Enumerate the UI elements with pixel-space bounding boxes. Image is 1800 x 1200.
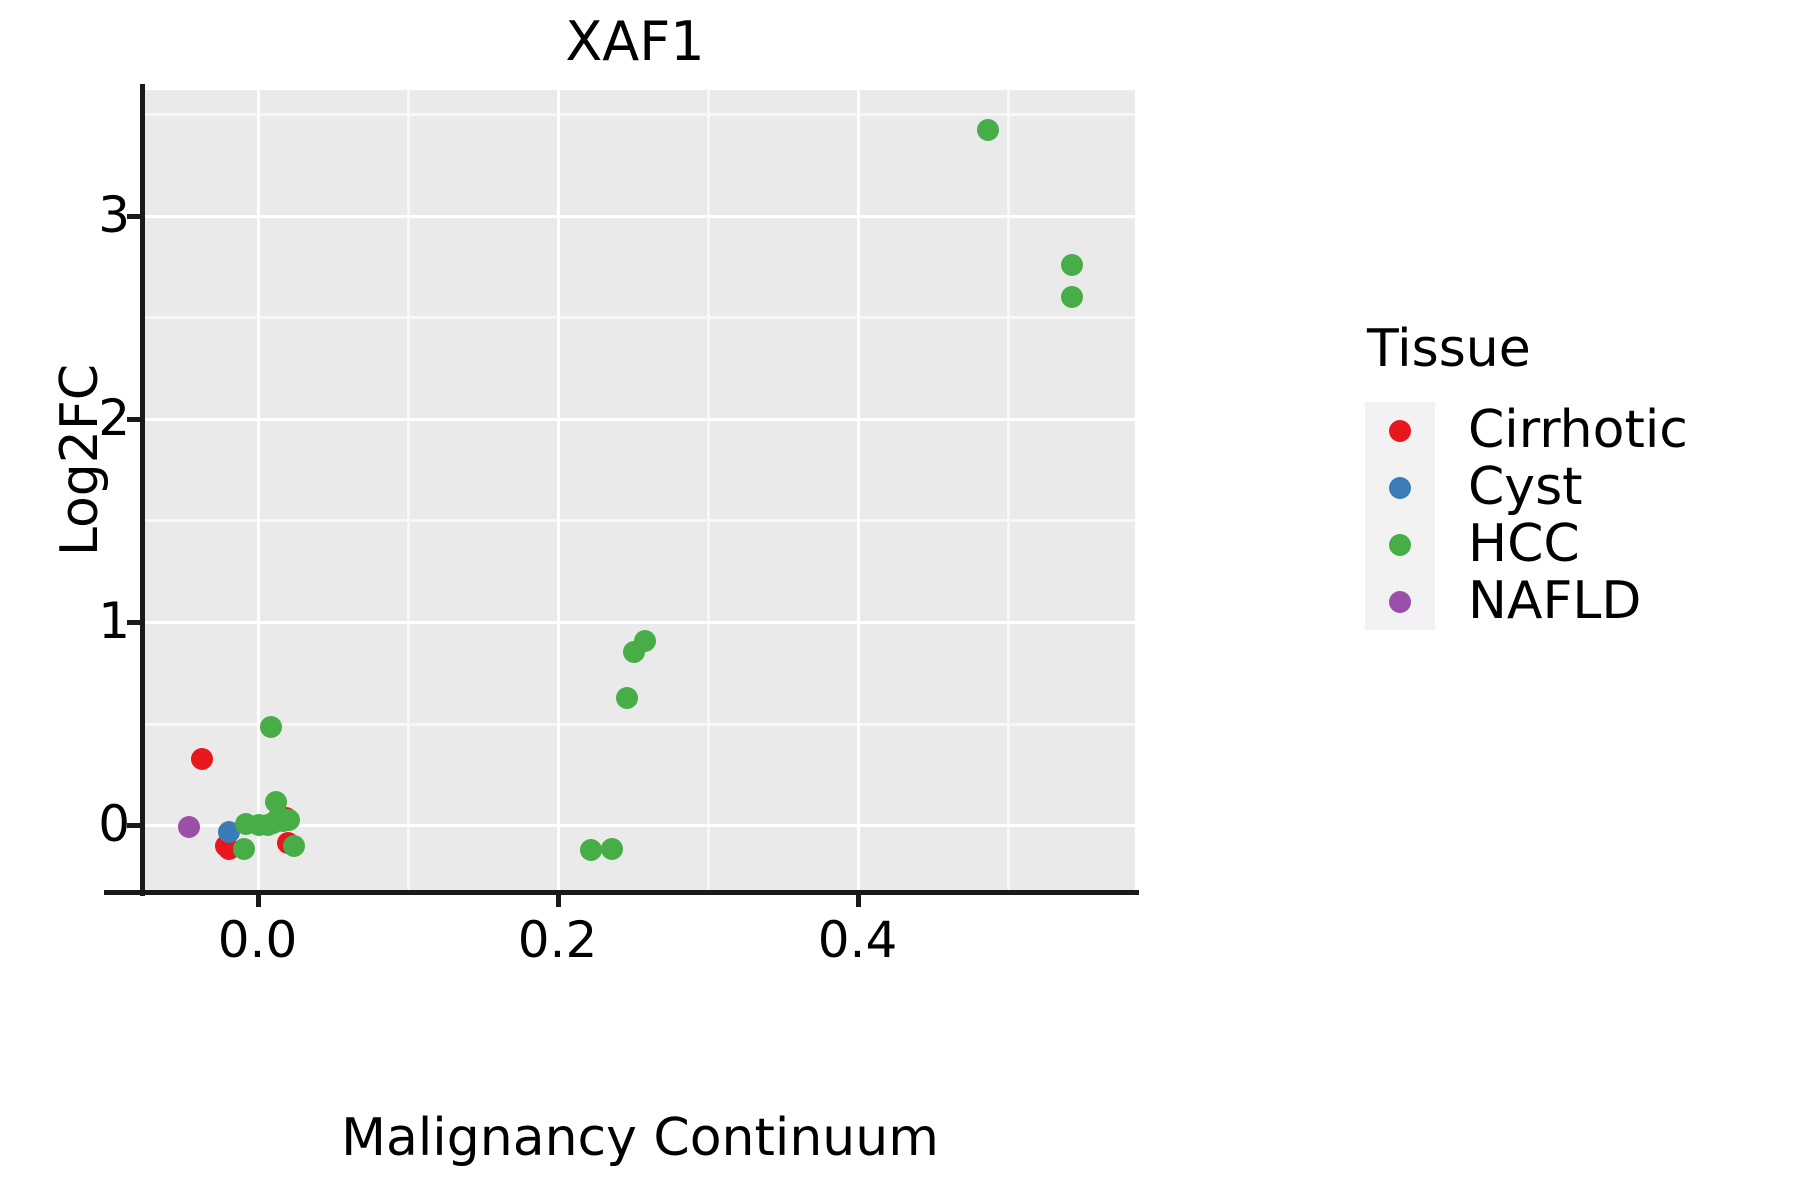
gridline-horizontal-major	[145, 621, 1135, 624]
legend-key-swatch	[1365, 573, 1435, 630]
data-point-hcc	[977, 119, 999, 141]
gridline-horizontal-major	[145, 215, 1135, 218]
x-tick-label: 0.0	[158, 915, 358, 965]
data-point-hcc	[233, 838, 255, 860]
legend-item-label: NAFLD	[1468, 573, 1641, 630]
gridline-vertical-major	[257, 90, 260, 890]
data-point-hcc	[601, 838, 623, 860]
x-tick-label: 0.4	[758, 915, 958, 965]
legend-item-nafld[interactable]: NAFLD	[1365, 573, 1688, 630]
y-axis-line	[140, 84, 145, 896]
data-point-cirrhotic	[191, 748, 213, 770]
data-point-hcc	[616, 687, 638, 709]
data-point-hcc	[580, 839, 602, 861]
gridline-vertical-minor	[707, 90, 710, 890]
page-title: XAF1	[0, 10, 1270, 74]
legend-dot-icon	[1389, 420, 1411, 442]
gridline-vertical-major	[557, 90, 560, 890]
chart-figure: XAF1 0123 0.00.20.4 Malignancy Continuum…	[0, 0, 1800, 1200]
legend-key-swatch	[1365, 459, 1435, 516]
x-tick-mark	[256, 893, 261, 907]
legend-key-swatch	[1365, 402, 1435, 459]
legend-item-label: Cyst	[1468, 459, 1583, 516]
gridline-horizontal-minor	[145, 723, 1135, 726]
legend-item-label: HCC	[1468, 516, 1580, 573]
legend: Tissue CirrhoticCystHCCNAFLD	[1365, 318, 1688, 630]
legend-entries: CirrhoticCystHCCNAFLD	[1365, 402, 1688, 630]
x-axis-title: Malignancy Continuum	[145, 1108, 1135, 1168]
gridline-horizontal-major	[145, 418, 1135, 421]
y-tick-label: 0	[10, 799, 130, 849]
gridline-horizontal-minor	[145, 519, 1135, 522]
y-axis-title: Log2FC	[50, 200, 110, 720]
legend-dot-icon	[1389, 477, 1411, 499]
legend-item-label: Cirrhotic	[1468, 402, 1688, 459]
data-point-hcc	[283, 835, 305, 857]
x-tick-label: 0.2	[458, 915, 658, 965]
legend-title: Tissue	[1365, 318, 1688, 380]
x-tick-mark	[856, 893, 861, 907]
data-point-hcc	[1061, 286, 1083, 308]
gridline-vertical-minor	[407, 90, 410, 890]
gridline-horizontal-minor	[145, 316, 1135, 319]
gridline-vertical-major	[857, 90, 860, 890]
legend-key-swatch	[1365, 516, 1435, 573]
data-point-nafld	[178, 816, 200, 838]
data-point-hcc	[235, 813, 257, 835]
legend-item-cirrhotic[interactable]: Cirrhotic	[1365, 402, 1688, 459]
data-point-hcc	[623, 641, 645, 663]
plot-panel	[145, 90, 1135, 890]
data-point-hcc	[1061, 254, 1083, 276]
legend-item-hcc[interactable]: HCC	[1365, 516, 1688, 573]
gridline-vertical-minor	[1007, 90, 1010, 890]
legend-dot-icon	[1389, 534, 1411, 556]
x-tick-mark	[556, 893, 561, 907]
legend-dot-icon	[1389, 591, 1411, 613]
legend-item-cyst[interactable]: Cyst	[1365, 459, 1688, 516]
gridline-horizontal-minor	[145, 113, 1135, 116]
data-point-hcc	[260, 716, 282, 738]
